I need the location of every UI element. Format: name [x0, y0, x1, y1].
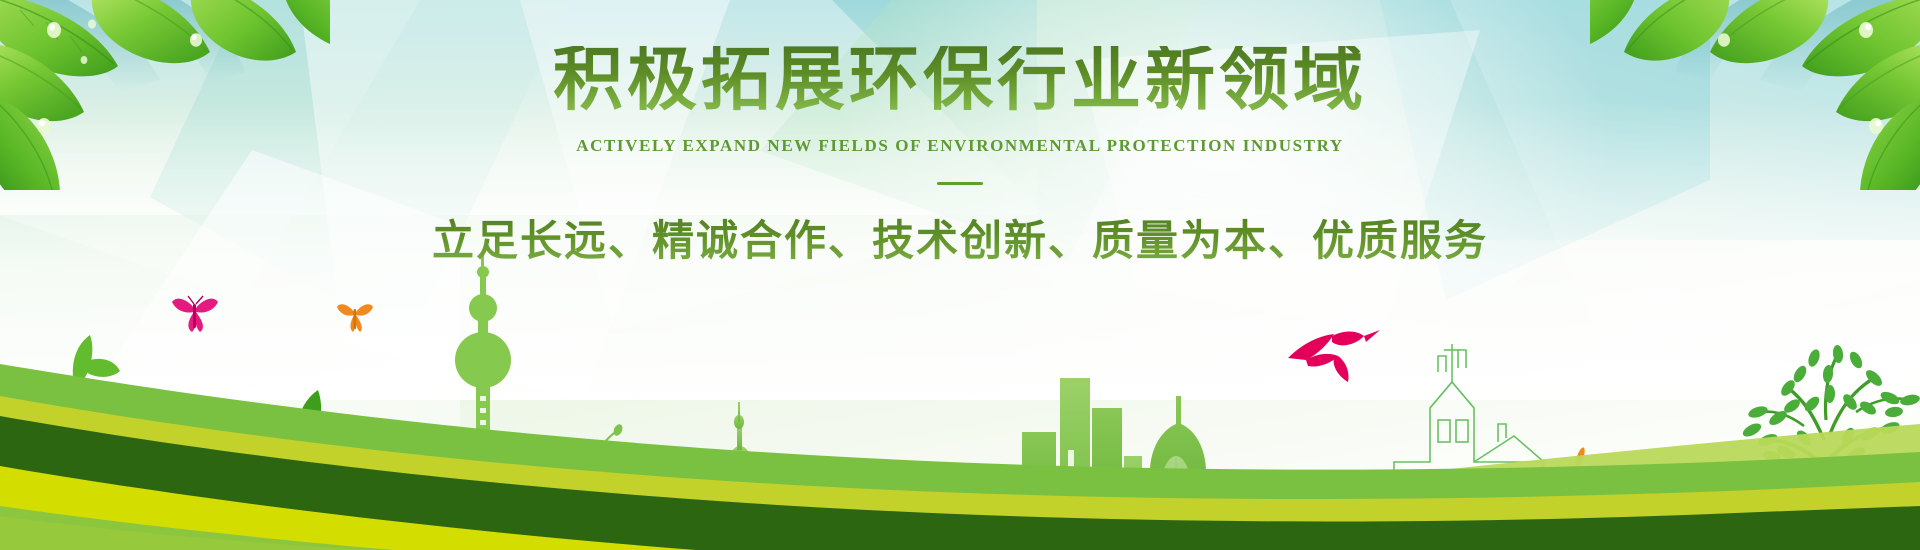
eco-banner: 积极拓展环保行业新领域 ACTIVELY EXPAND NEW FIELDS O… [0, 0, 1920, 550]
banner-text-block: 积极拓展环保行业新领域 ACTIVELY EXPAND NEW FIELDS O… [0, 46, 1920, 268]
wave-bands [0, 320, 1920, 550]
page-subtitle: ACTIVELY EXPAND NEW FIELDS OF ENVIRONMEN… [0, 136, 1920, 156]
page-title: 积极拓展环保行业新领域 [0, 46, 1920, 116]
title-divider [937, 182, 983, 185]
page-tagline: 立足长远、精诚合作、技术创新、质量为本、优质服务 [0, 207, 1920, 268]
